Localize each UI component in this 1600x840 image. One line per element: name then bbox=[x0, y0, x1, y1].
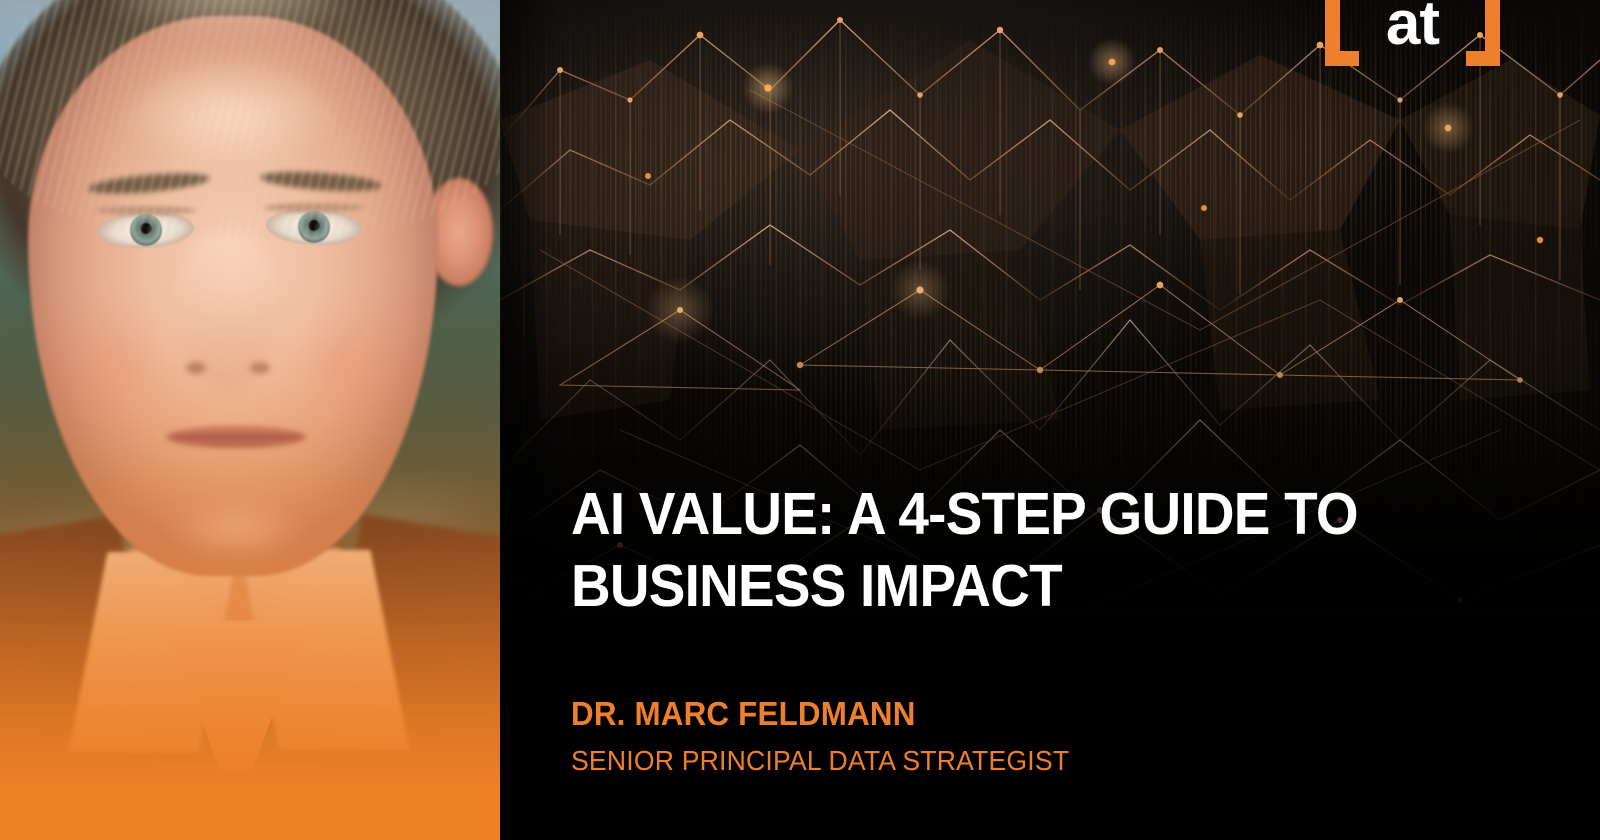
portrait-subject bbox=[0, 0, 500, 690]
lip-line bbox=[170, 435, 302, 439]
speaker-name: DR. MARC FELDMANN bbox=[571, 695, 916, 733]
cheek-right bbox=[290, 315, 400, 411]
slide-canvas: at AI VALUE: A 4-STEP GUIDE TO BUSINESS … bbox=[0, 0, 1600, 840]
nostril-right bbox=[250, 362, 270, 374]
page-title: AI VALUE: A 4-STEP GUIDE TO BUSINESS IMP… bbox=[571, 478, 1464, 622]
hair-highlight bbox=[30, 0, 430, 54]
cheek-left bbox=[62, 318, 172, 414]
speaker-role: SENIOR PRINCIPAL DATA STRATEGIST bbox=[571, 745, 1069, 777]
brand-logo[interactable]: at bbox=[1325, 0, 1500, 66]
nostril-left bbox=[186, 362, 206, 374]
logo-wordmark: at bbox=[1325, 0, 1500, 66]
chin-highlight bbox=[142, 486, 332, 576]
speaker-portrait bbox=[0, 0, 500, 840]
